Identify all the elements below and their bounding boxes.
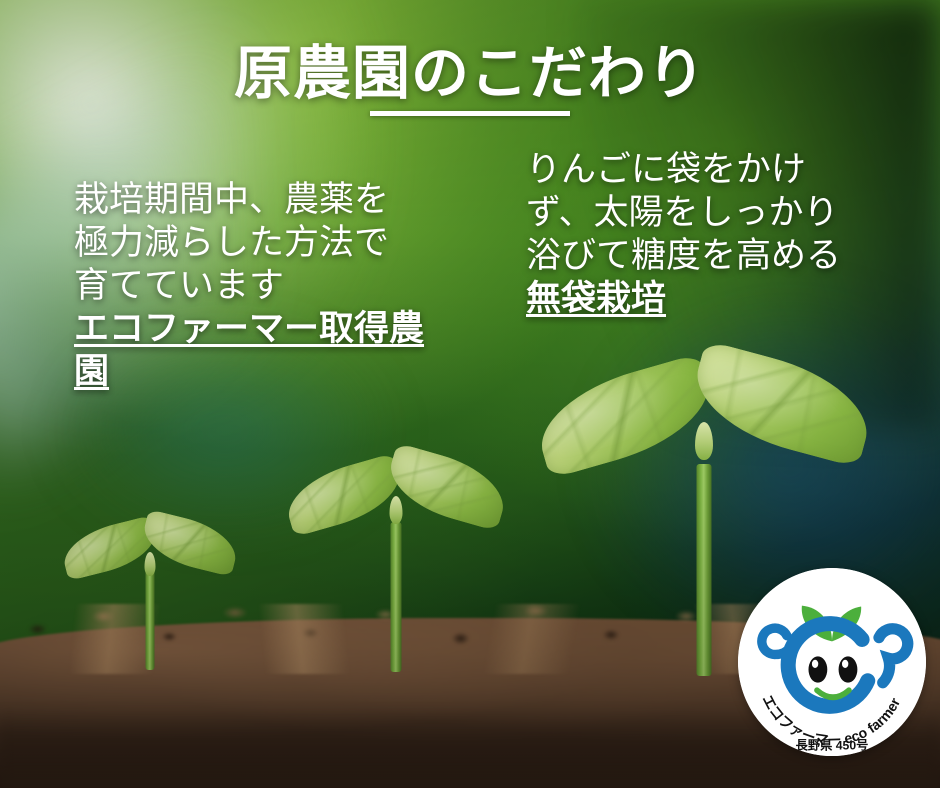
promo-banner: 原農園のこだわり 栽培期間中、農薬を 極力減らした方法で 育てています エコファ… xyxy=(0,0,940,788)
badge-caption: 長野県 450号 xyxy=(796,737,869,752)
left-text-block: 栽培期間中、農薬を 極力減らした方法で 育てています エコファーマー取得農園 xyxy=(74,178,424,393)
left-body-text: 栽培期間中、農薬を 極力減らした方法で 育てています xyxy=(74,180,389,305)
right-text-block: りんごに袋をかけ ず、太陽をしっかり 浴びて糖度を高める 無袋栽培 xyxy=(526,148,886,320)
right-body-text: りんごに袋をかけ ず、太陽をしっかり 浴びて糖度を高める xyxy=(526,150,841,275)
page-title: 原農園のこだわり xyxy=(0,26,940,110)
left-emphasis-text: エコファーマー取得農園 xyxy=(74,309,424,391)
right-emphasis-text: 無袋栽培 xyxy=(526,279,666,318)
eco-farmer-badge: エコファーマー eco farmer 長野県 450号 xyxy=(738,568,926,756)
title-divider xyxy=(370,111,570,116)
